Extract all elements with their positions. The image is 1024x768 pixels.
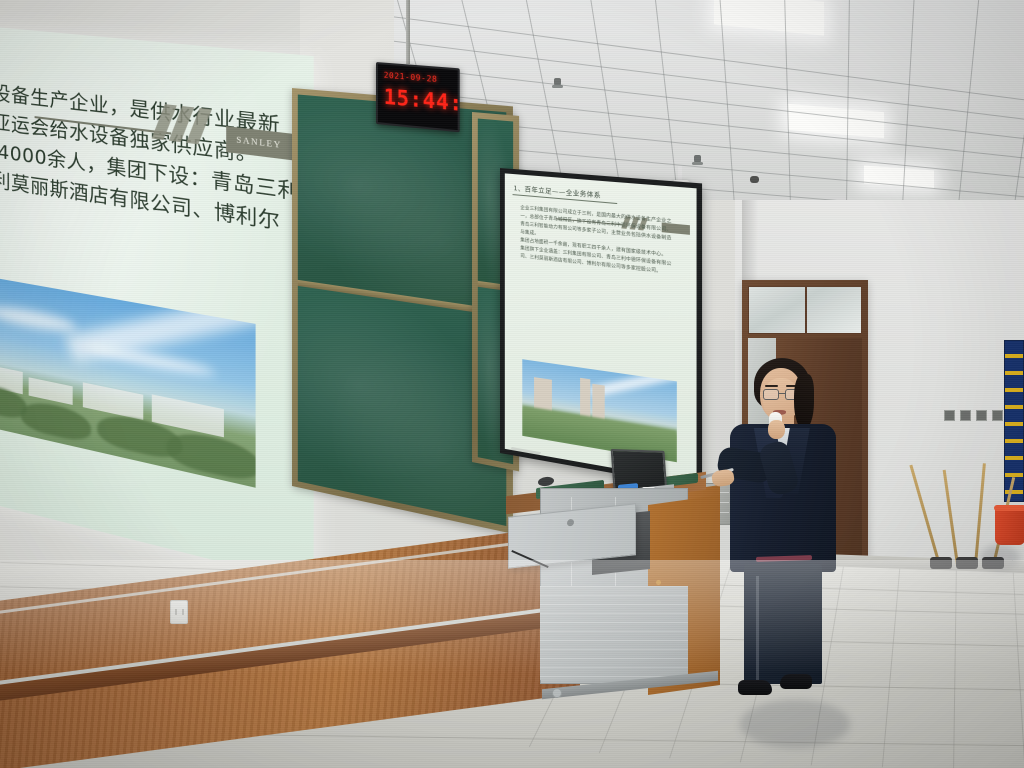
led-wall-clock: 2021-09-28 15:44:00 (376, 62, 460, 132)
building (83, 382, 143, 420)
light-switch-row[interactable] (944, 410, 1003, 421)
shoe (780, 674, 812, 689)
building (29, 377, 73, 405)
light-switch[interactable] (944, 410, 955, 421)
sprinkler-head (694, 155, 701, 165)
ceiling-light-panel (714, 0, 824, 36)
trouser-seam (756, 576, 759, 682)
ceiling-grid-line (578, 0, 634, 200)
slide-body-text: 企业三利集团有限公司成立于三利，是国内最大的供水设备生产企业之一，总部位于青岛城… (520, 205, 674, 278)
ceiling-camera-icon (750, 176, 759, 183)
ceiling-grid-line (845, 0, 851, 200)
interactive-display-right[interactable]: 1、百年立足——全业务体系 企业三利集团有限公司成立于三利，是国内最大的供水设备… (500, 168, 702, 489)
slide-photo-skyline (522, 359, 677, 462)
podium-lock[interactable] (656, 580, 661, 585)
lecturer (716, 358, 866, 718)
light-switch[interactable] (960, 410, 971, 421)
red-bucket (995, 505, 1024, 545)
eyebrow (765, 385, 778, 387)
hair-side (794, 374, 814, 430)
clock-date: 2021-09-28 (384, 71, 454, 86)
floor-reflection (740, 700, 850, 748)
teaching-podium[interactable] (496, 462, 732, 712)
floor-tile-line (1012, 560, 1024, 768)
display-bezel: 1、百年立足——全业务体系 企业三利集团有限公司成立于三利，是国内最大的供水设备… (500, 168, 702, 489)
logo-wordmark: SANLEY (226, 126, 292, 160)
clock-time: 15:44:00 (384, 85, 454, 116)
classroom-photo-scene: 大最专业的供水设备生产企业，是供水行业最新 技术企业，广州亚运会给水设备独家供应… (0, 0, 1024, 768)
broom-handle (943, 470, 959, 565)
cloud (0, 303, 77, 336)
light-switch[interactable] (992, 410, 1003, 421)
mop-head (956, 557, 978, 569)
podium-front-panel (540, 586, 688, 680)
light-switch[interactable] (976, 410, 987, 421)
display-surface: 1、百年立足——全业务体系 企业三利集团有限公司成立于三利，是国内最大的供水设备… (505, 173, 697, 482)
floor-reflection (980, 545, 1020, 571)
transom-mullion (805, 287, 807, 333)
drawer-knob[interactable] (567, 519, 574, 527)
clock-mount-arm (406, 0, 410, 64)
outlet-slot (182, 609, 184, 615)
power-outlet[interactable] (170, 600, 188, 624)
podium-power-button[interactable] (552, 688, 562, 698)
left-hand (768, 420, 785, 439)
door-transom-window (748, 286, 862, 334)
cloud (87, 342, 215, 380)
shoe (738, 680, 772, 695)
broom-head (930, 557, 952, 569)
lens (763, 389, 779, 400)
floor-tile-line (882, 560, 901, 767)
outlet-slot (175, 609, 177, 615)
projection-screen-left: 大最专业的供水设备生产企业，是供水行业最新 技术企业，广州亚运会给水设备独家供应… (0, 26, 314, 585)
